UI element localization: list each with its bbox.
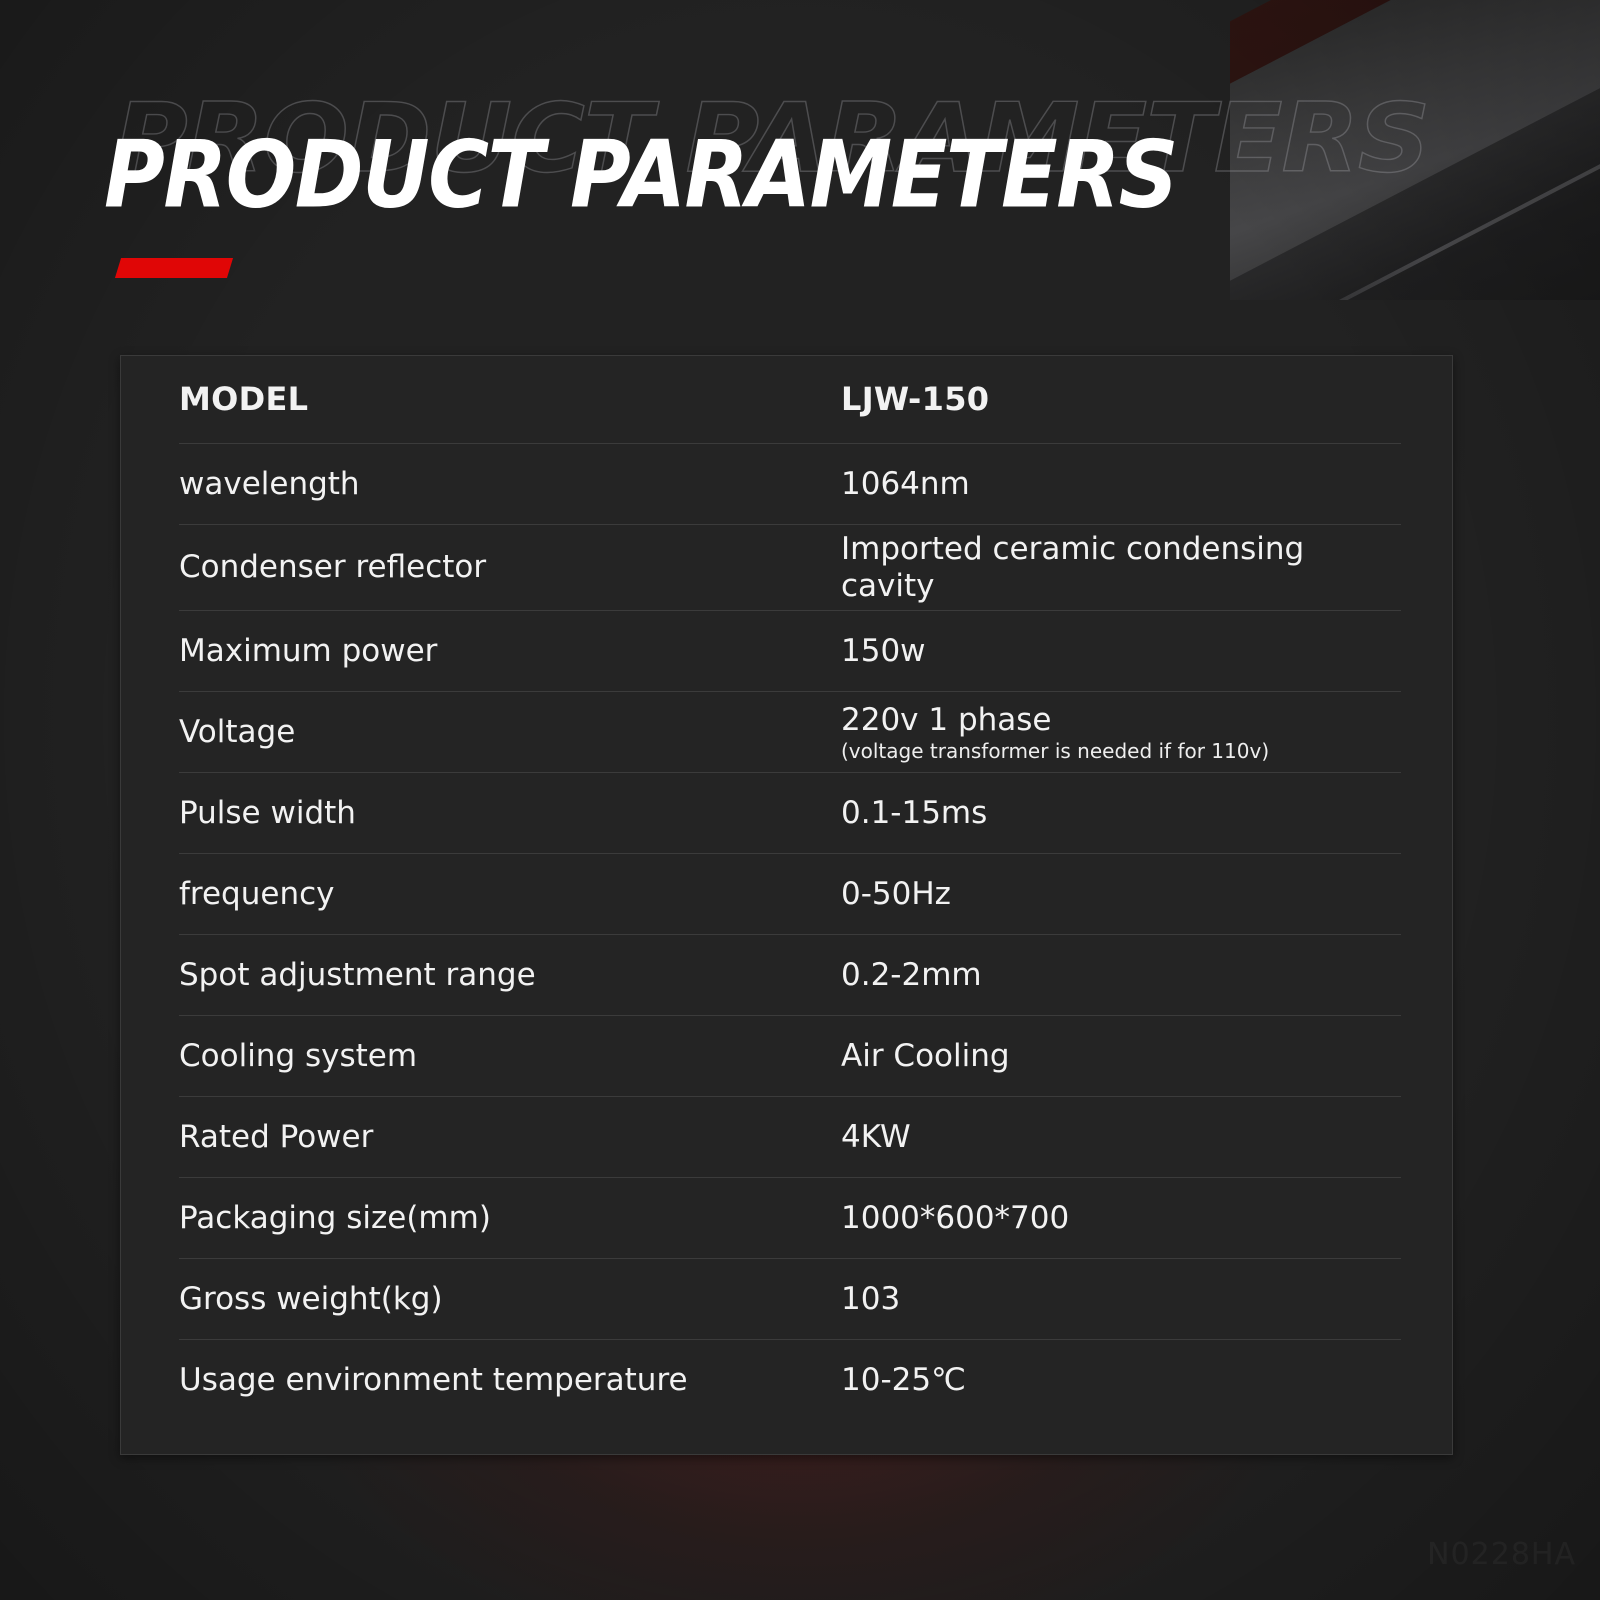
spec-value: 1064nm bbox=[841, 466, 1401, 503]
spec-value: 0-50Hz bbox=[841, 876, 1401, 913]
page-title: PRODUCT PARAMETERS bbox=[104, 120, 1177, 229]
table-row: Spot adjustment range0.2-2mm bbox=[179, 935, 1401, 1016]
spec-label: Voltage bbox=[179, 714, 841, 751]
spec-value: 1000*600*700 bbox=[841, 1200, 1401, 1237]
table-row: wavelength1064nm bbox=[179, 444, 1401, 525]
product-parameters-page: PRODUCT PARAMETERS PRODUCT PARAMETERS MO… bbox=[0, 0, 1600, 1600]
spec-value: 4KW bbox=[841, 1119, 1401, 1156]
spec-value-main: 103 bbox=[841, 1281, 900, 1317]
spec-label: Spot adjustment range bbox=[179, 957, 841, 994]
spec-value-main: 4KW bbox=[841, 1119, 911, 1155]
spec-value: 0.1-15ms bbox=[841, 795, 1401, 832]
table-row: Pulse width0.1-15ms bbox=[179, 773, 1401, 854]
table-row: Voltage220v 1 phase(voltage transformer … bbox=[179, 692, 1401, 773]
spec-value-main: 220v 1 phase bbox=[841, 702, 1052, 738]
spec-label: Gross weight(kg) bbox=[179, 1281, 841, 1318]
specifications-table: MODEL LJW-150 wavelength1064nmCondenser … bbox=[179, 356, 1401, 1421]
spec-value-main: 10-25℃ bbox=[841, 1362, 966, 1398]
watermark-code: N0228HA bbox=[1427, 1537, 1576, 1572]
table-row: Maximum power150w bbox=[179, 611, 1401, 692]
spec-value-main: 1000*600*700 bbox=[841, 1200, 1069, 1236]
spec-value: 10-25℃ bbox=[841, 1362, 1401, 1399]
table-row: Gross weight(kg)103 bbox=[179, 1259, 1401, 1340]
spec-value-main: Air Cooling bbox=[841, 1038, 1010, 1074]
spec-value-main: 0.1-15ms bbox=[841, 795, 987, 831]
spec-value: 103 bbox=[841, 1281, 1401, 1318]
spec-value: 0.2-2mm bbox=[841, 957, 1401, 994]
table-row: Usage environment temperature10-25℃ bbox=[179, 1340, 1401, 1421]
red-accent-bar bbox=[115, 258, 233, 278]
spec-label: Condenser reflector bbox=[179, 549, 841, 586]
header-value-model: LJW-150 bbox=[841, 381, 1401, 419]
spec-label: Usage environment temperature bbox=[179, 1362, 841, 1399]
spec-label: Cooling system bbox=[179, 1038, 841, 1075]
spec-label: Rated Power bbox=[179, 1119, 841, 1156]
table-row: Packaging size(mm)1000*600*700 bbox=[179, 1178, 1401, 1259]
spec-value-main: 0.2-2mm bbox=[841, 957, 982, 993]
page-heading: PRODUCT PARAMETERS PRODUCT PARAMETERS bbox=[104, 96, 1304, 226]
table-row: Rated Power4KW bbox=[179, 1097, 1401, 1178]
spec-value: Imported ceramic condensing cavity bbox=[841, 531, 1401, 604]
specifications-panel: MODEL LJW-150 wavelength1064nmCondenser … bbox=[120, 355, 1453, 1455]
spec-value-main: Imported ceramic condensing cavity bbox=[841, 531, 1304, 604]
spec-value: 150w bbox=[841, 633, 1401, 670]
header-label-model: MODEL bbox=[179, 381, 841, 419]
spec-label: wavelength bbox=[179, 466, 841, 503]
table-row: Condenser reflectorImported ceramic cond… bbox=[179, 525, 1401, 611]
table-row: frequency0-50Hz bbox=[179, 854, 1401, 935]
spec-value: Air Cooling bbox=[841, 1038, 1401, 1075]
spec-label: Pulse width bbox=[179, 795, 841, 832]
spec-value-main: 150w bbox=[841, 633, 926, 669]
spec-value-main: 1064nm bbox=[841, 466, 970, 502]
table-row: Cooling systemAir Cooling bbox=[179, 1016, 1401, 1097]
spec-value-note: (voltage transformer is needed if for 11… bbox=[841, 740, 1401, 762]
spec-value-main: 0-50Hz bbox=[841, 876, 951, 912]
table-header-row: MODEL LJW-150 bbox=[179, 356, 1401, 444]
spec-value: 220v 1 phase(voltage transformer is need… bbox=[841, 702, 1401, 763]
spec-label: Maximum power bbox=[179, 633, 841, 670]
spec-label: Packaging size(mm) bbox=[179, 1200, 841, 1237]
spec-label: frequency bbox=[179, 876, 841, 913]
